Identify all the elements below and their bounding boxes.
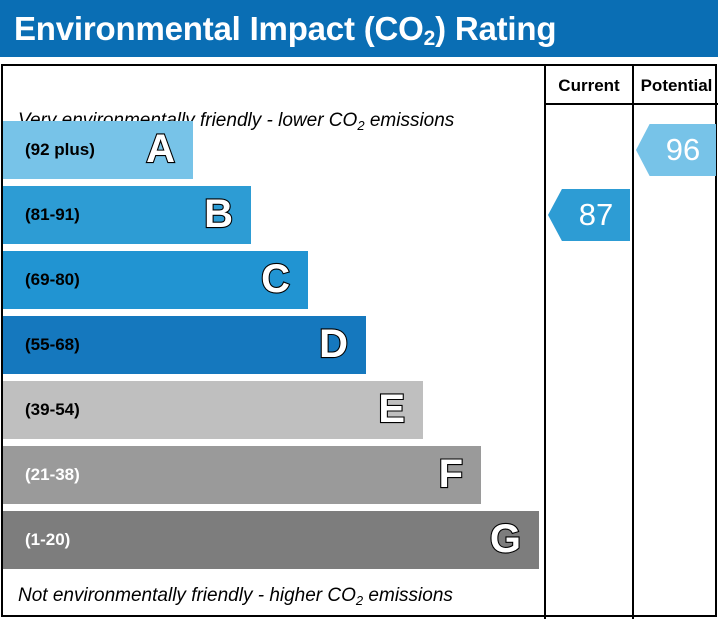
- rating-band-g: (1-20)G: [3, 511, 539, 569]
- page-title: Environmental Impact (CO2) Rating: [14, 10, 556, 48]
- band-letter-f: F: [439, 454, 463, 494]
- band-range-label-c: (69-80): [25, 270, 80, 290]
- band-range-label-b: (81-91): [25, 205, 80, 225]
- title-subscript: 2: [424, 27, 435, 50]
- column-divider-current: [544, 66, 546, 619]
- rating-band-a: (92 plus)A: [3, 121, 193, 179]
- band-letter-b: B: [204, 194, 233, 234]
- band-range-label-e: (39-54): [25, 400, 80, 420]
- band-letter-d: D: [319, 324, 348, 364]
- band-letter-a: A: [146, 129, 175, 169]
- band-letter-e: E: [378, 389, 405, 429]
- rating-arrow-potential: 96: [636, 124, 716, 176]
- header-row-divider: [544, 103, 718, 105]
- column-header-current: Current: [546, 68, 632, 103]
- band-range-label-d: (55-68): [25, 335, 80, 355]
- chart-table-frame: Current Potential Very environmentally f…: [1, 64, 717, 617]
- band-range-label-f: (21-38): [25, 465, 80, 485]
- column-divider-potential: [632, 66, 634, 619]
- band-letter-g: G: [490, 519, 521, 559]
- band-range-label-a: (92 plus): [25, 140, 95, 160]
- title-prefix: Environmental Impact (CO: [14, 10, 424, 47]
- rating-band-b: (81-91)B: [3, 186, 251, 244]
- rating-band-c: (69-80)C: [3, 251, 308, 309]
- rating-band-d: (55-68)D: [3, 316, 366, 374]
- band-letter-c: C: [261, 259, 290, 299]
- rating-band-e: (39-54)E: [3, 381, 423, 439]
- column-header-potential: Potential: [634, 68, 718, 103]
- rating-arrow-current: 87: [548, 189, 630, 241]
- title-suffix: ) Rating: [435, 10, 556, 47]
- rating-bands-group: (92 plus)A(81-91)B(69-80)C(55-68)D(39-54…: [3, 66, 542, 619]
- band-range-label-g: (1-20): [25, 530, 70, 550]
- rating-band-f: (21-38)F: [3, 446, 481, 504]
- epc-environmental-impact-chart: Environmental Impact (CO2) Rating Curren…: [0, 0, 718, 619]
- chart-title-bar: Environmental Impact (CO2) Rating: [0, 0, 718, 57]
